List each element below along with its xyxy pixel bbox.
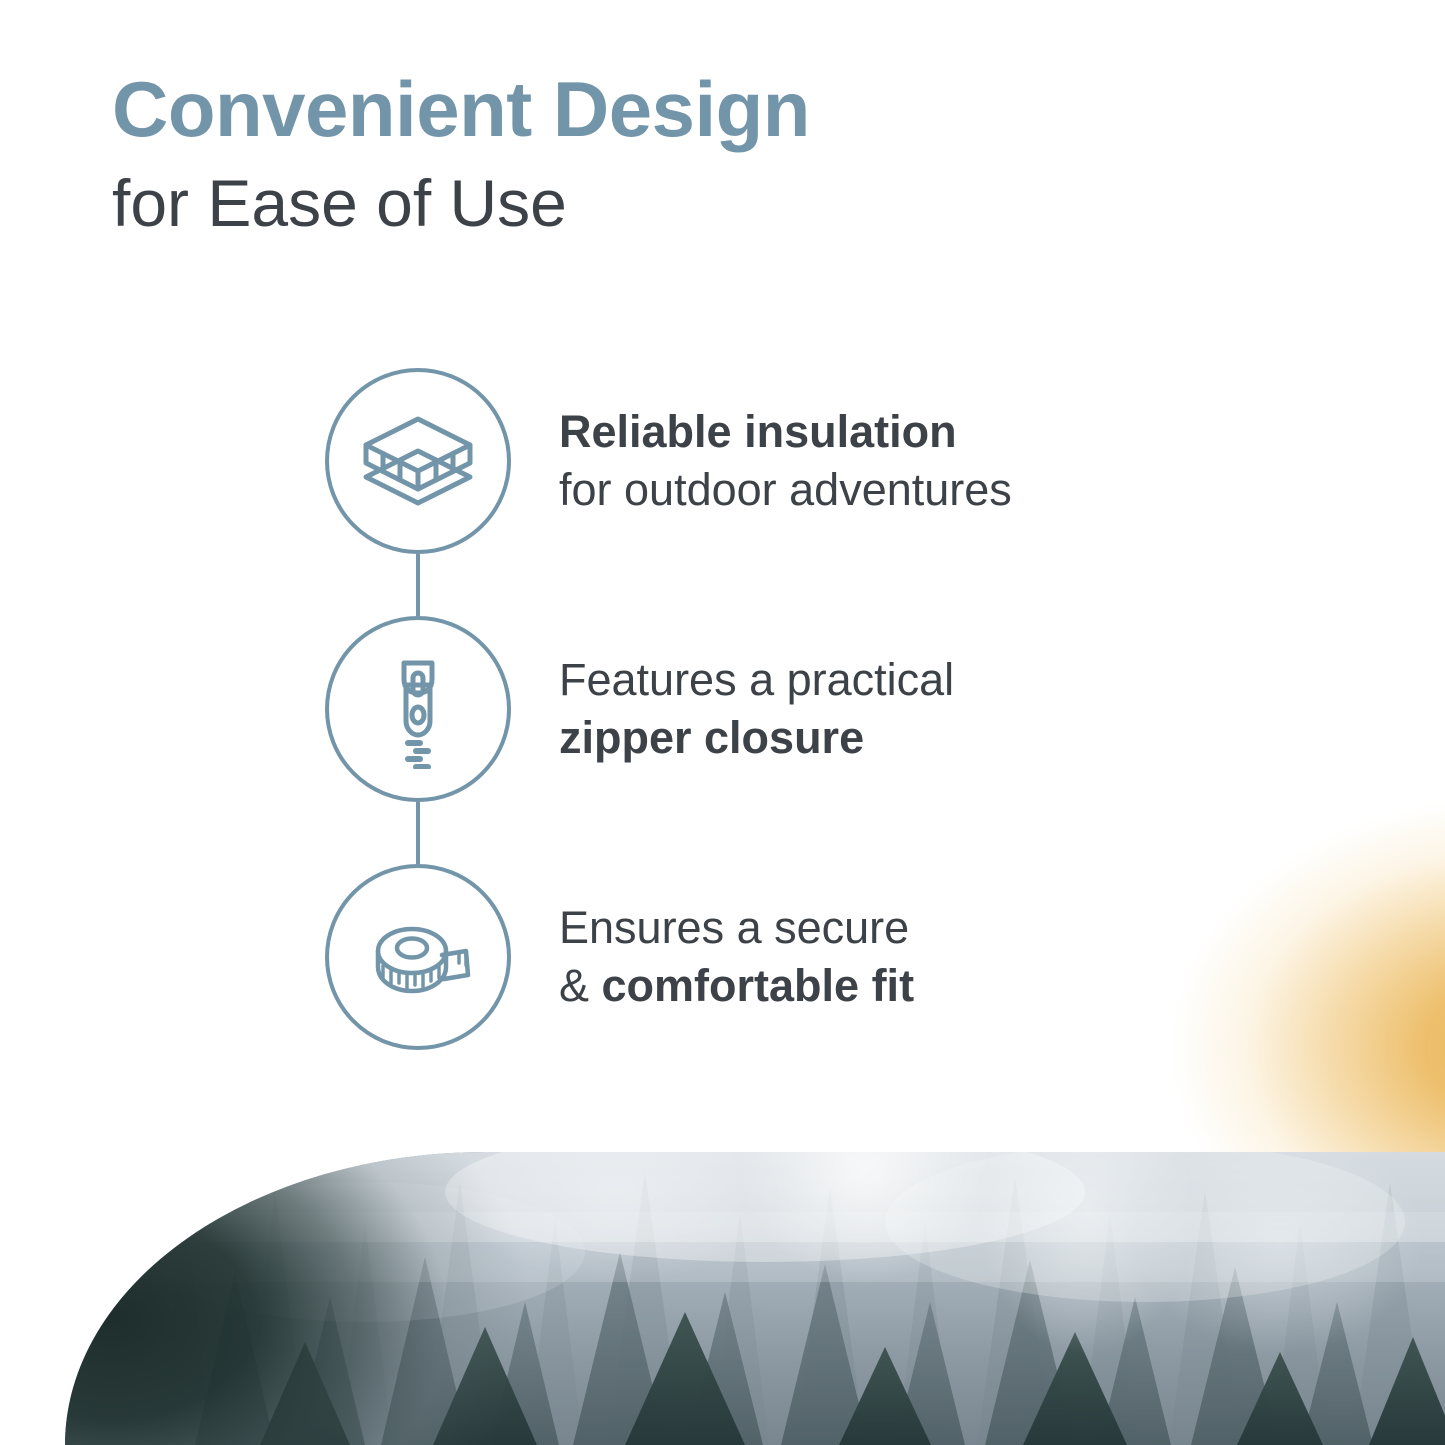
feature-item-fit: Ensures a secure & comfortable fit xyxy=(325,864,1325,1050)
feature-line-prefix: & xyxy=(559,960,602,1011)
feature-line-regular: for outdoor adventures xyxy=(559,464,1012,515)
zipper-closure-icon xyxy=(325,616,511,802)
feature-line-bold: comfortable fit xyxy=(602,960,915,1011)
heading-block: Convenient Design for Ease of Use xyxy=(112,70,810,236)
feature-item-zipper: Features a practical zipper closure xyxy=(325,616,1325,802)
feature-line-regular: Ensures a secure xyxy=(559,902,909,953)
feature-list: Reliable insulation for outdoor adventur… xyxy=(325,368,1325,1050)
page-subtitle: for Ease of Use xyxy=(112,170,810,236)
product-feature-infographic: Convenient Design for Ease of Use xyxy=(0,0,1445,1445)
connector-line-1 xyxy=(416,554,420,616)
feature-line-bold: Reliable insulation xyxy=(559,406,957,457)
layered-insulation-icon xyxy=(325,368,511,554)
feature-line-bold: zipper closure xyxy=(559,712,864,763)
feature-line-regular: Features a practical xyxy=(559,654,954,705)
page-title: Convenient Design xyxy=(112,70,810,148)
feature-item-insulation: Reliable insulation for outdoor adventur… xyxy=(325,368,1325,554)
connector-line-2 xyxy=(416,802,420,864)
feature-text-insulation: Reliable insulation for outdoor adventur… xyxy=(559,403,1012,518)
feature-text-fit: Ensures a secure & comfortable fit xyxy=(559,899,914,1014)
forest-photo xyxy=(65,1152,1445,1445)
forest-dark-foreground xyxy=(65,1152,605,1445)
feature-text-zipper: Features a practical zipper closure xyxy=(559,651,954,766)
measuring-tape-icon xyxy=(325,864,511,1050)
